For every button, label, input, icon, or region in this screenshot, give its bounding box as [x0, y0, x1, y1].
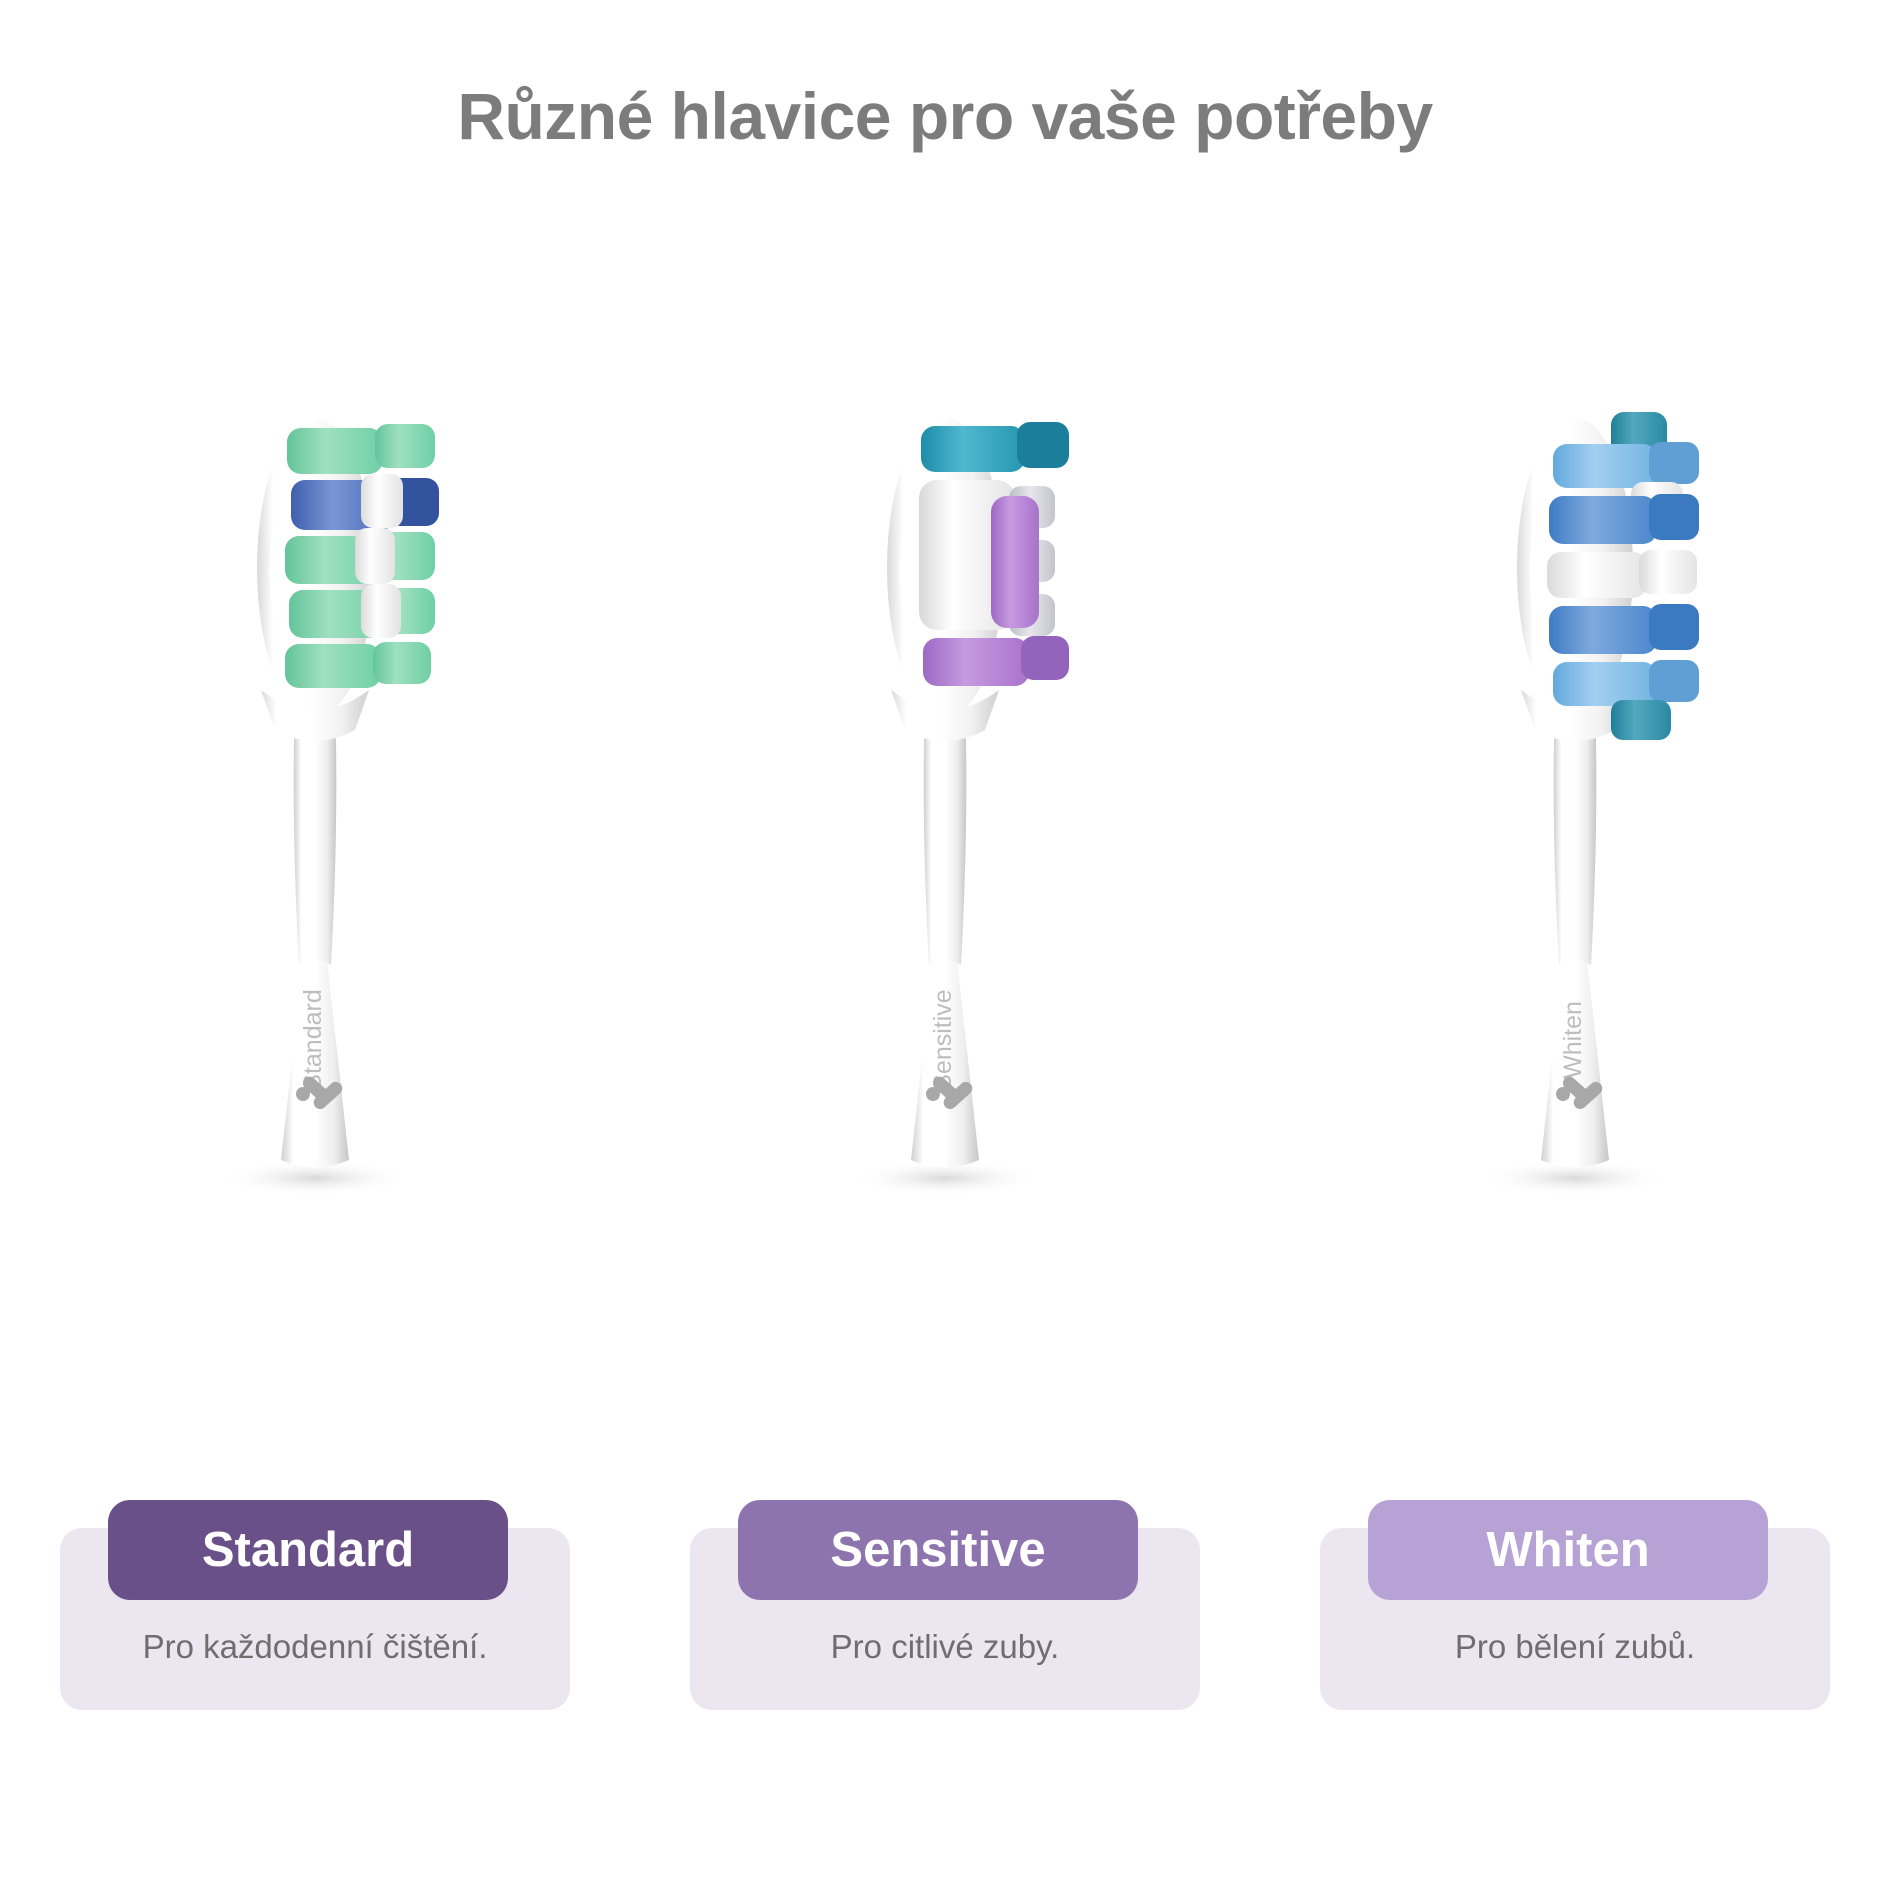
bristle-tuft-group: [1547, 412, 1699, 740]
page-title: Různé hlavice pro vaše potřeby: [0, 78, 1890, 154]
engraved-name-whiten: Whiten: [1559, 1001, 1587, 1079]
badge-sensitive[interactable]: Sensitive: [738, 1500, 1138, 1600]
engraved-name-sensitive: Sensitive: [929, 989, 957, 1090]
engraved-name-standard: Standard: [299, 989, 327, 1090]
product-sensitive: Sensitive: [730, 400, 1160, 1400]
toothbrush-head-sensitive-image: Sensitive: [795, 400, 1095, 1400]
product-whiten: Whiten: [1360, 400, 1790, 1400]
infographic-page: Různé hlavice pro vaše potřeby: [0, 0, 1890, 1890]
badge-standard[interactable]: Standard: [108, 1500, 508, 1600]
toothbrush-head-whiten-image: Whiten: [1425, 400, 1725, 1400]
label-card-sensitive: Sensitive Pro citlivé zuby.: [690, 1500, 1200, 1710]
label-card-standard: Standard Pro každodenní čištění.: [60, 1500, 570, 1710]
label-card-row: Standard Pro každodenní čištění. Sensiti…: [0, 1500, 1890, 1710]
description-standard: Pro každodenní čištění.: [60, 1628, 570, 1666]
label-card-whiten: Whiten Pro bělení zubů.: [1320, 1500, 1830, 1710]
description-whiten: Pro bělení zubů.: [1320, 1628, 1830, 1666]
product-row: Standard: [0, 400, 1890, 1400]
description-sensitive: Pro citlivé zuby.: [690, 1628, 1200, 1666]
badge-whiten[interactable]: Whiten: [1368, 1500, 1768, 1600]
bristle-tuft-group: [919, 422, 1069, 686]
product-standard: Standard: [100, 400, 530, 1400]
toothbrush-head-standard-image: Standard: [165, 400, 465, 1400]
bristle-tuft-group: [285, 424, 439, 688]
